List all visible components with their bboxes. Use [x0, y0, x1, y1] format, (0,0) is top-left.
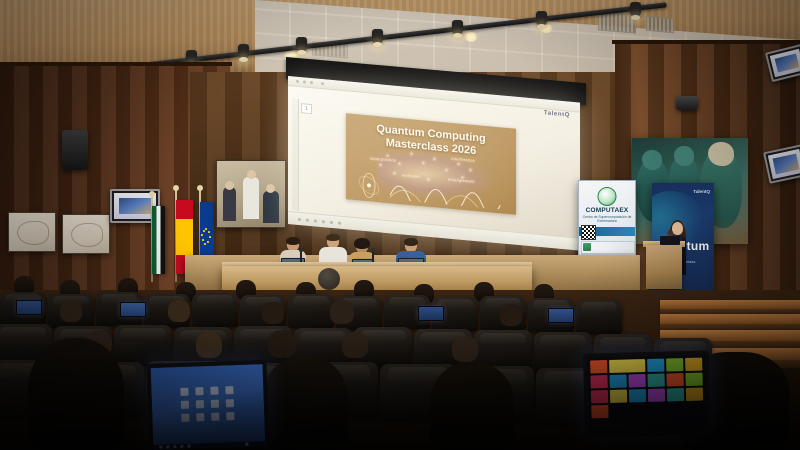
tile[interactable]	[647, 359, 664, 372]
audience-area	[0, 0, 800, 450]
desktop-icon[interactable]	[181, 400, 189, 408]
audience-person-c2	[196, 332, 222, 358]
tile[interactable]	[609, 359, 645, 373]
audience-seat-b13	[576, 300, 622, 334]
audience-laptop-b2	[120, 302, 146, 317]
tile[interactable]	[591, 405, 608, 418]
tile[interactable]	[648, 389, 665, 402]
audience-seat-b5	[192, 293, 238, 327]
foreground-laptop-right-screen	[587, 354, 707, 433]
tile[interactable]	[590, 360, 607, 373]
tile[interactable]	[590, 375, 607, 388]
desktop-icon[interactable]	[195, 387, 203, 395]
tile[interactable]	[686, 388, 703, 401]
desktop-icon[interactable]	[211, 399, 219, 407]
audience-person-c4	[342, 332, 368, 358]
desktop-icon[interactable]	[196, 400, 204, 408]
tile[interactable]	[647, 374, 664, 387]
desktop-icon[interactable]	[196, 413, 204, 421]
tile[interactable]	[667, 388, 684, 401]
windows8-start-tiles[interactable]	[587, 354, 707, 433]
tile[interactable]	[609, 375, 626, 388]
audience-person-b2	[168, 300, 190, 322]
tile[interactable]	[685, 373, 702, 386]
audience-person-b3	[262, 302, 284, 324]
foreground-laptop-windows8-start[interactable]	[583, 350, 711, 437]
audience-seat-b7	[288, 294, 334, 328]
tile[interactable]	[628, 374, 645, 387]
audience-laptop-b1	[16, 300, 42, 315]
tile[interactable]	[685, 358, 702, 371]
tile[interactable]	[666, 373, 683, 386]
desktop-icon[interactable]	[211, 412, 219, 420]
audience-laptop-b3	[418, 306, 444, 321]
foreground-laptop-left-screen	[151, 364, 266, 450]
tile[interactable]	[629, 389, 646, 402]
foreground-laptop-windows-desktop[interactable]	[146, 360, 269, 450]
audience-person-foreground-3	[430, 362, 514, 450]
tile[interactable]	[610, 390, 627, 403]
tile[interactable]	[591, 390, 608, 403]
audience-person-b5	[500, 304, 522, 326]
desktop-icon[interactable]	[180, 387, 188, 395]
desktop-icon-grid[interactable]	[180, 386, 235, 422]
tile[interactable]	[666, 358, 683, 371]
audience-person-b4	[330, 300, 354, 324]
auditorium-photo: TalentQ 1 Qu	[0, 0, 800, 450]
audience-laptop-b4	[548, 308, 574, 323]
desktop-icon[interactable]	[225, 386, 233, 394]
desktop-icon[interactable]	[226, 399, 234, 407]
audience-person-foreground-2	[262, 356, 348, 450]
desktop-icon[interactable]	[210, 386, 218, 394]
audience-person-c3	[268, 330, 296, 358]
desktop-icon[interactable]	[226, 412, 234, 420]
desktop-icon[interactable]	[181, 413, 189, 421]
audience-person-c5	[452, 336, 478, 362]
audience-person-foreground-1	[28, 338, 124, 450]
audience-person-b1	[60, 300, 82, 322]
